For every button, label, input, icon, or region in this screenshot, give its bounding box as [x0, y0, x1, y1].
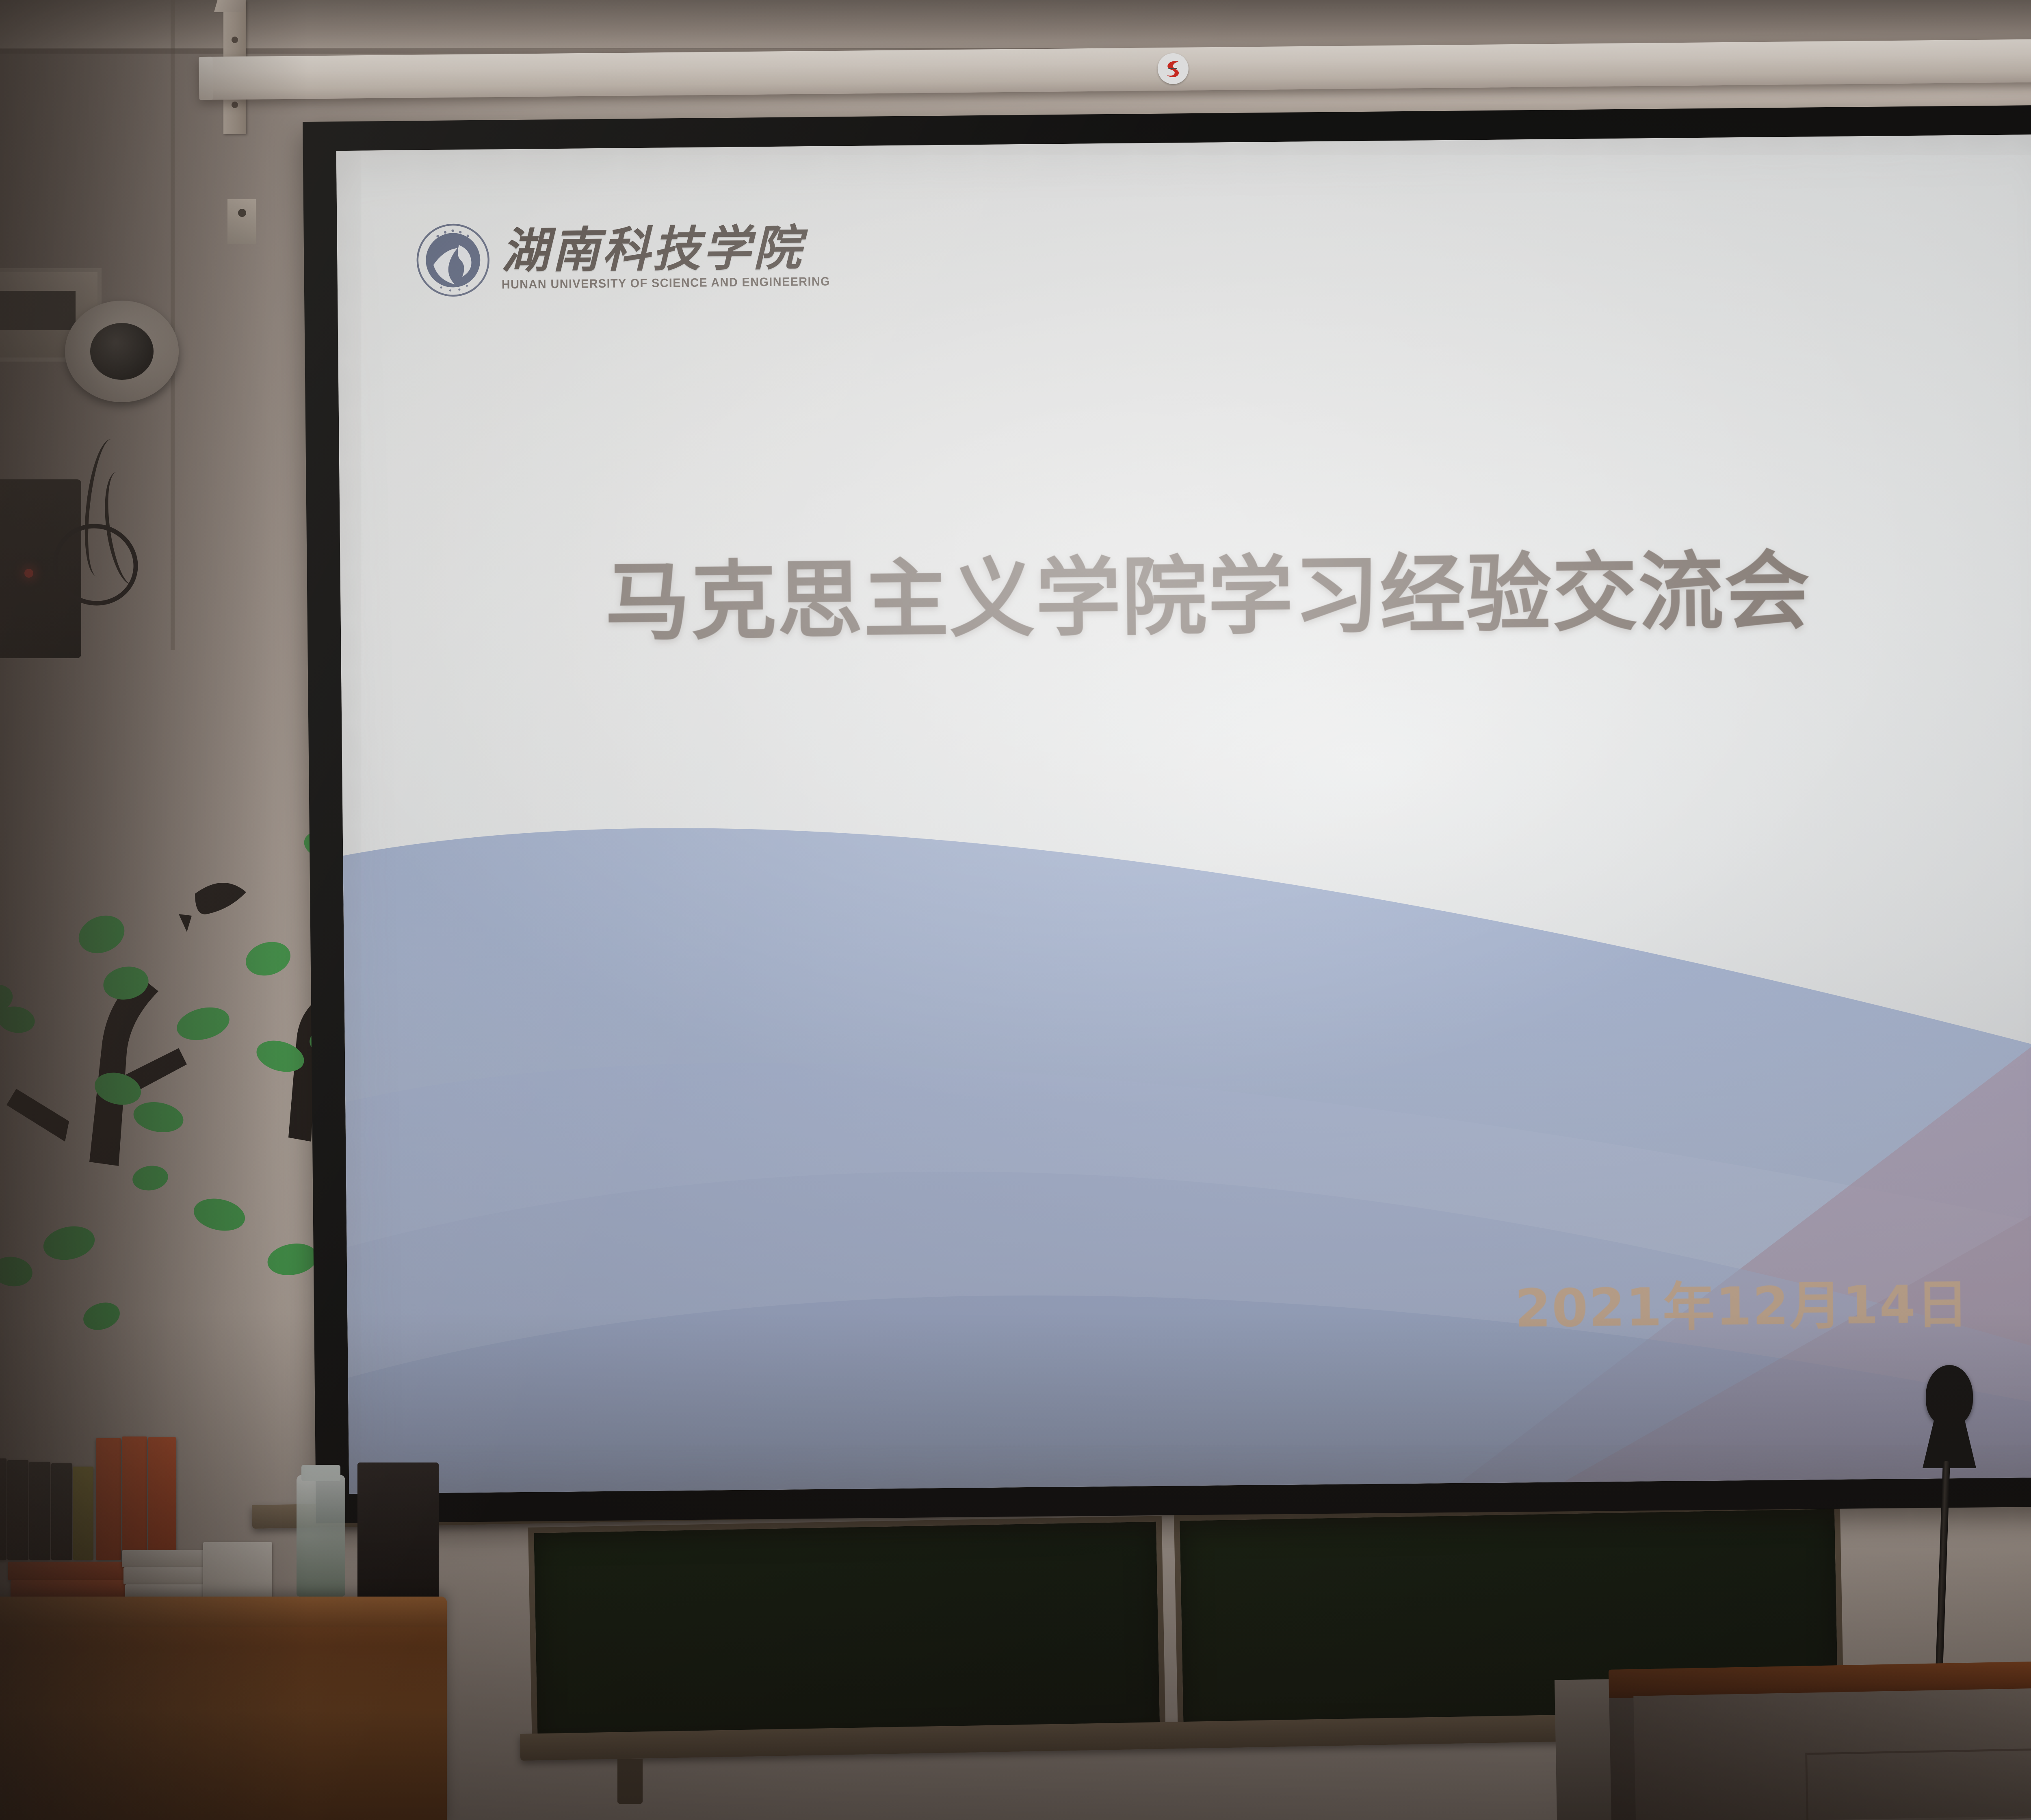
brand-s-logo-icon — [1158, 53, 1189, 84]
classroom-scene: 自 强 — [0, 0, 2031, 1820]
presentation-slide: 湖南科技学院 HUNAN UNIVERSITY OF SCIENCE AND E… — [336, 134, 2031, 1494]
projection-screen[interactable]: 湖南科技学院 HUNAN UNIVERSITY OF SCIENCE AND E… — [303, 105, 2031, 1523]
slide-title: 马克思主义学院学习经验交流会 — [340, 544, 2031, 651]
logo-chinese-name: 湖南科技学院 — [501, 224, 844, 275]
ceiling-band — [0, 0, 2031, 49]
slide-wave-decoration — [342, 752, 2031, 1494]
blackboard-lower-left — [528, 1516, 1166, 1755]
wooden-podium[interactable] — [0, 1597, 447, 1820]
lectern-panel — [1805, 1735, 2031, 1820]
slide-date: 2021年12月14日 — [1514, 1262, 1969, 1342]
slide-logo: 湖南科技学院 HUNAN UNIVERSITY OF SCIENCE AND E… — [415, 219, 844, 298]
microphone-head — [1926, 1365, 1973, 1426]
roller-end-cap — [199, 57, 213, 100]
dark-item-stack — [357, 1462, 439, 1601]
wall-seam — [171, 0, 175, 650]
tray-clip — [617, 1759, 643, 1804]
microphone-collar — [1923, 1419, 1976, 1468]
dome-camera-icon — [65, 301, 179, 402]
wall-switch-box[interactable] — [227, 199, 256, 244]
screen-surface: 湖南科技学院 HUNAN UNIVERSITY OF SCIENCE AND E… — [336, 134, 2031, 1494]
water-bottle[interactable] — [297, 1475, 345, 1597]
speaker-lectern[interactable] — [1609, 1648, 2031, 1820]
bottle-cap — [301, 1465, 340, 1481]
podium-top — [0, 1597, 447, 1627]
logo-english-name: HUNAN UNIVERSITY OF SCIENCE AND ENGINEER… — [502, 275, 830, 292]
university-crest-icon — [415, 222, 492, 298]
power-led-icon — [24, 569, 33, 578]
lectern-body — [1633, 1675, 2031, 1820]
